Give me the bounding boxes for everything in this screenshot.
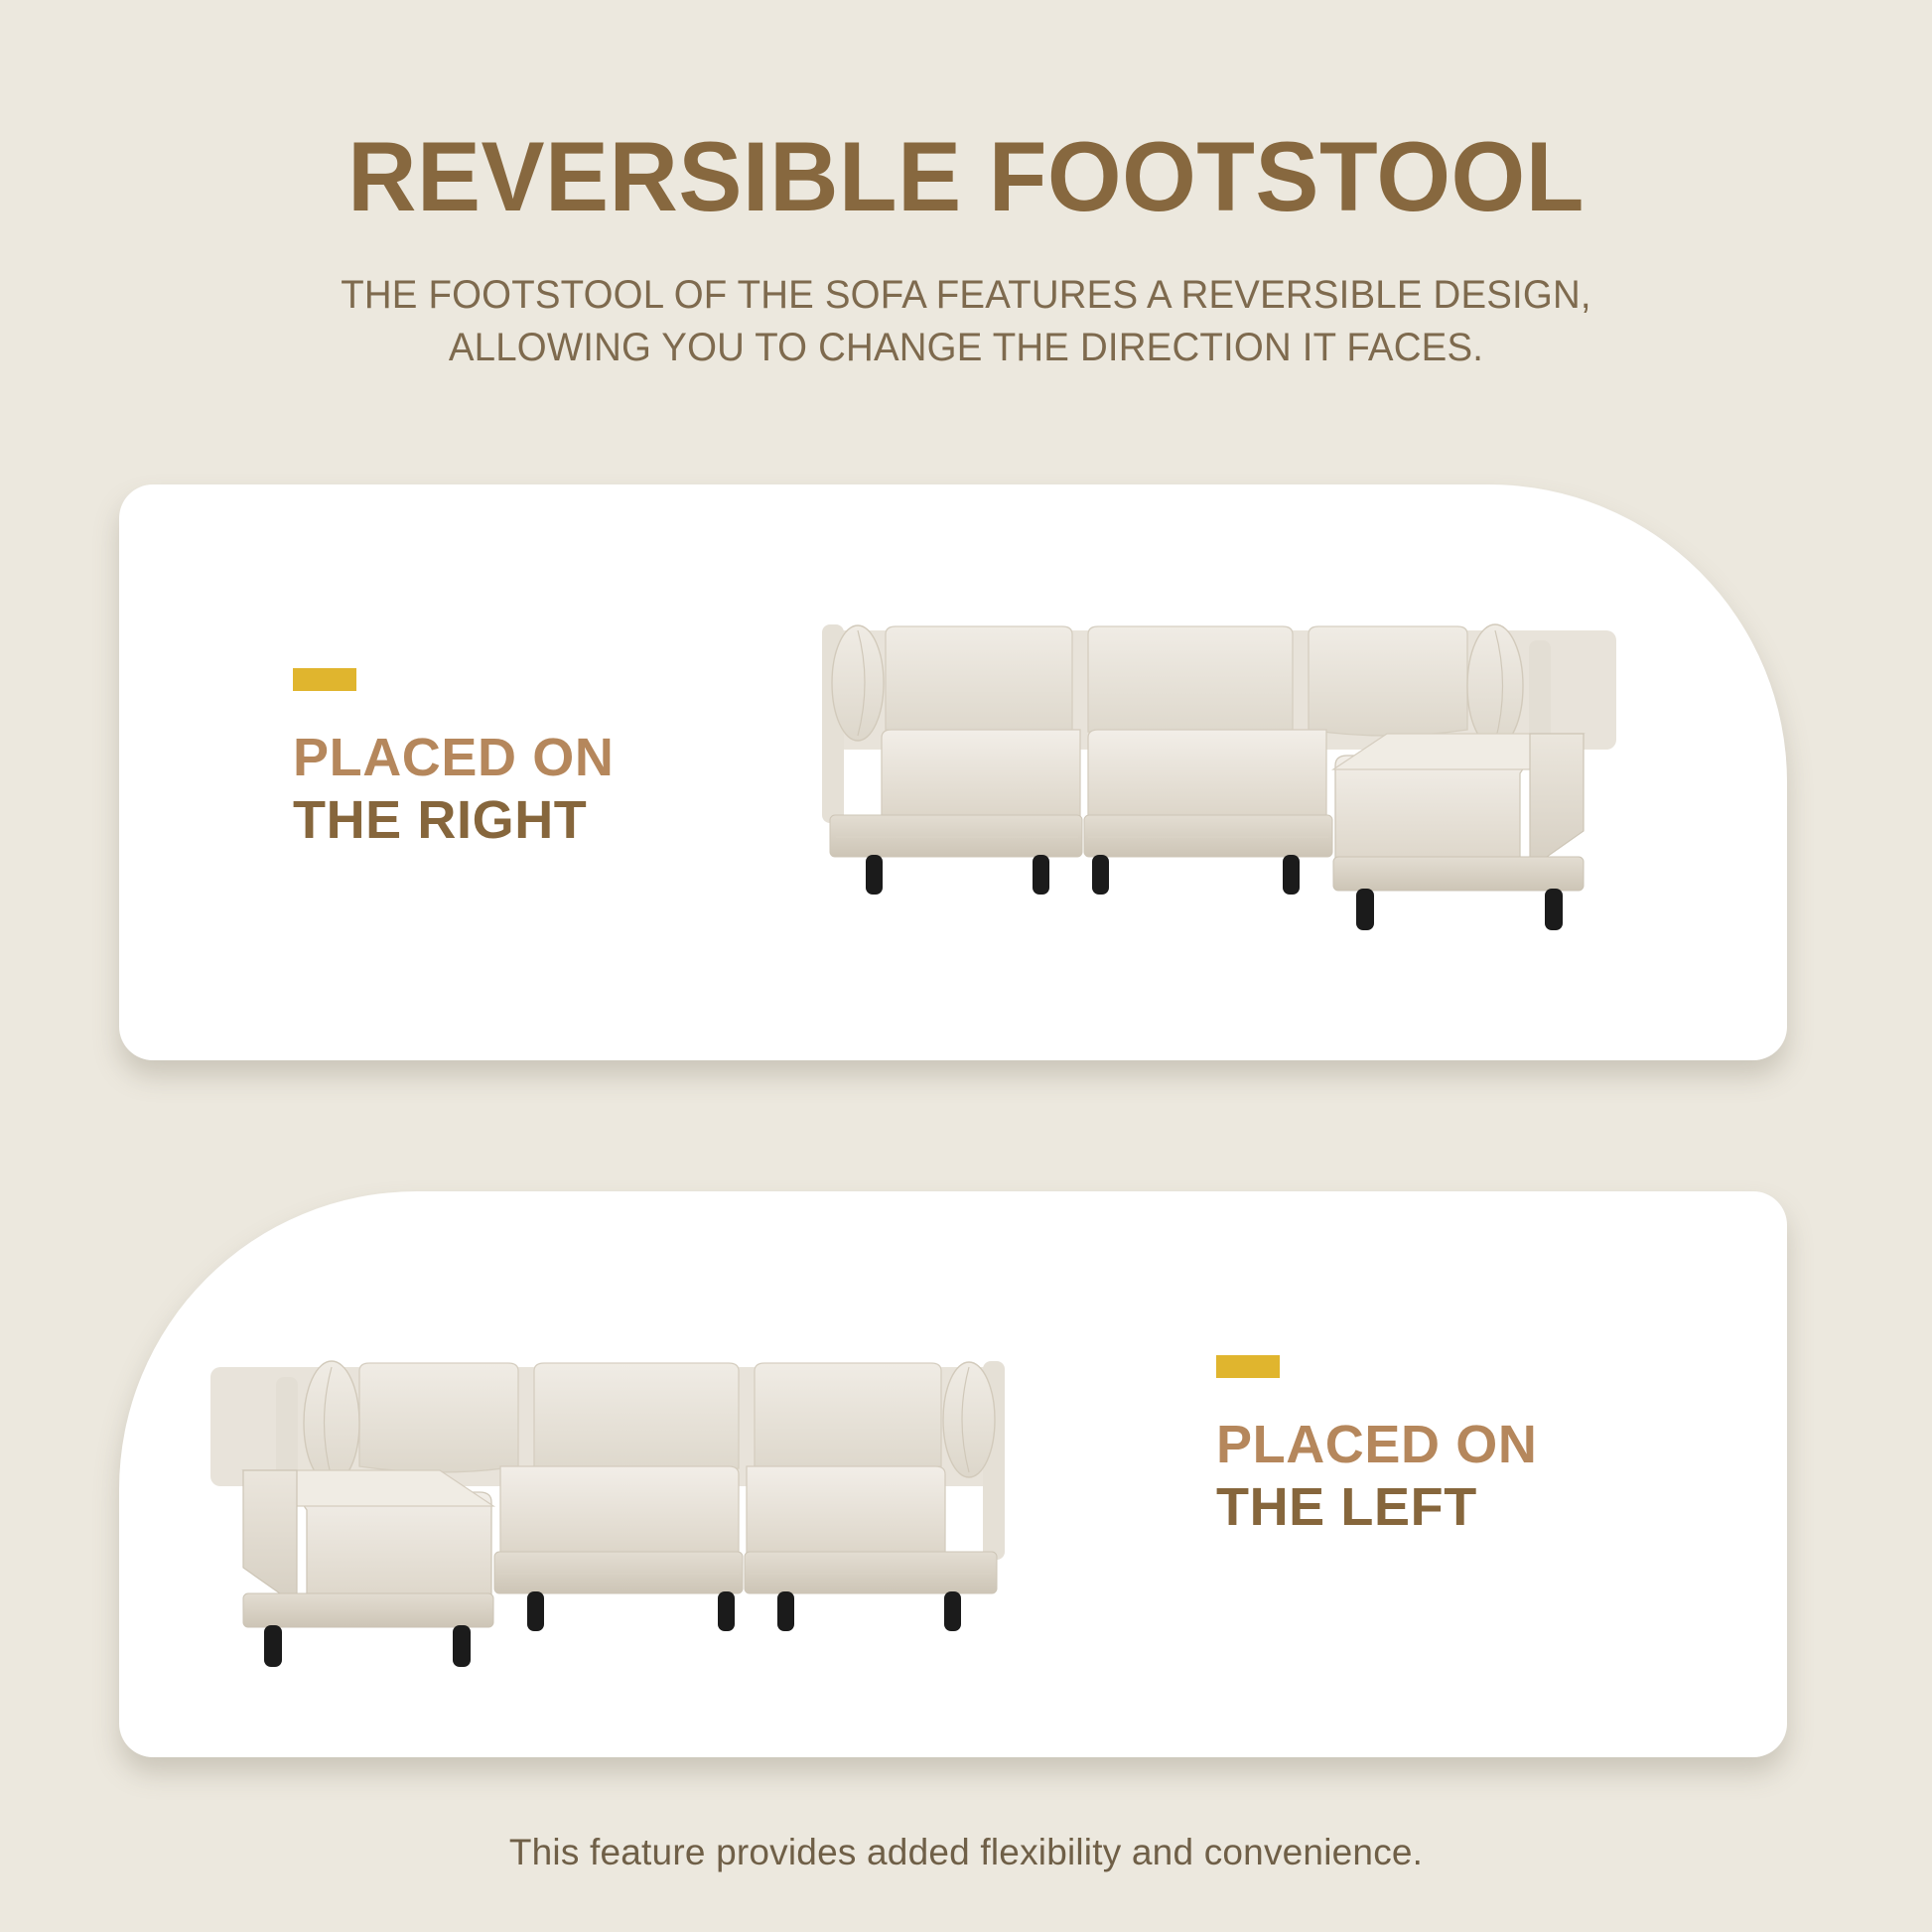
header: REVERSIBLE FOOTSTOOL THE FOOTSTOOL OF TH…: [0, 0, 1932, 374]
sofa-illustration-right: [794, 539, 1648, 996]
sofa-image-footstool-left: [179, 1276, 1033, 1732]
accent-bar-icon: [293, 668, 356, 691]
page-title: REVERSIBLE FOOTSTOOL: [29, 127, 1903, 225]
sofa-image-footstool-right: [794, 539, 1648, 996]
card-right-label-line-2: THE RIGHT: [293, 789, 614, 852]
page-subtitle: THE FOOTSTOOL OF THE SOFA FEATURES A REV…: [39, 269, 1893, 374]
card-left-label-line-1: PLACED ON: [1216, 1414, 1537, 1476]
accent-bar-icon: [1216, 1355, 1280, 1378]
label-block-left: PLACED ON THE LEFT: [1216, 1355, 1537, 1539]
card-left-label-line-2: THE LEFT: [1216, 1476, 1537, 1539]
card-placed-on-the-right[interactable]: PLACED ON THE RIGHT: [119, 484, 1787, 1060]
label-block-right: PLACED ON THE RIGHT: [293, 668, 614, 852]
sofa-illustration-left: [179, 1276, 1033, 1732]
subtitle-line-1: THE FOOTSTOOL OF THE SOFA FEATURES A REV…: [39, 269, 1893, 322]
subtitle-line-2: ALLOWING YOU TO CHANGE THE DIRECTION IT …: [39, 322, 1893, 374]
card-right-label-line-1: PLACED ON: [293, 727, 614, 789]
footer-note: This feature provides added flexibility …: [0, 1832, 1932, 1873]
card-placed-on-the-left[interactable]: PLACED ON THE LEFT: [119, 1191, 1787, 1757]
